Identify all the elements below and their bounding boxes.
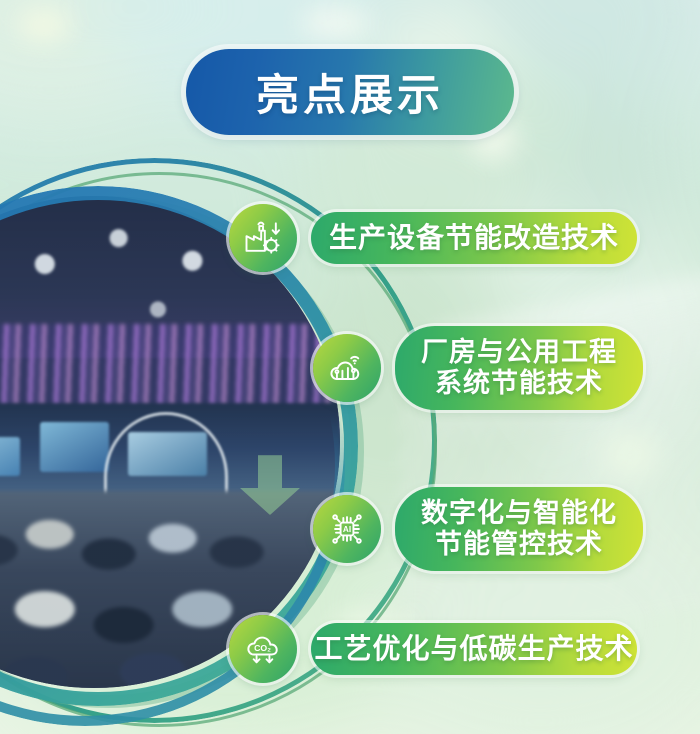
highlight-label-4: 工艺优化与低碳生产技术 (314, 633, 633, 665)
co2-reduction-cloud-icon: CO₂ (229, 615, 297, 683)
cloud-wifi-building-icon (313, 334, 381, 402)
svg-text:AI: AI (343, 525, 351, 534)
highlight-label-3: 数字化与智能化 节能管控技术 (421, 498, 617, 561)
highlight-item-3[interactable]: AI 数字化与智能化 节能管控技术 (313, 487, 643, 571)
highlight-label-2: 厂房与公用工程 系统节能技术 (421, 337, 617, 400)
poster-canvas: 亮点展示 生产设备节能改造技术 (0, 0, 700, 734)
highlight-item-4[interactable]: CO₂ 工艺优化与低碳生产技术 (229, 615, 637, 683)
page-title-pill: 亮点展示 (186, 49, 514, 135)
highlight-pill-4[interactable]: 工艺优化与低碳生产技术 (311, 623, 637, 675)
highlight-label-1: 生产设备节能改造技术 (329, 222, 619, 254)
factory-energy-saving-icon (229, 204, 297, 272)
svg-text:CO₂: CO₂ (254, 643, 271, 653)
ai-chip-icon: AI (313, 495, 381, 563)
highlight-pill-2[interactable]: 厂房与公用工程 系统节能技术 (395, 326, 643, 410)
page-title: 亮点展示 (256, 61, 444, 123)
highlight-item-1[interactable]: 生产设备节能改造技术 (229, 204, 637, 272)
highlight-pill-3[interactable]: 数字化与智能化 节能管控技术 (395, 487, 643, 571)
highlight-pill-1[interactable]: 生产设备节能改造技术 (311, 212, 637, 264)
highlight-item-2[interactable]: 厂房与公用工程 系统节能技术 (313, 326, 643, 410)
